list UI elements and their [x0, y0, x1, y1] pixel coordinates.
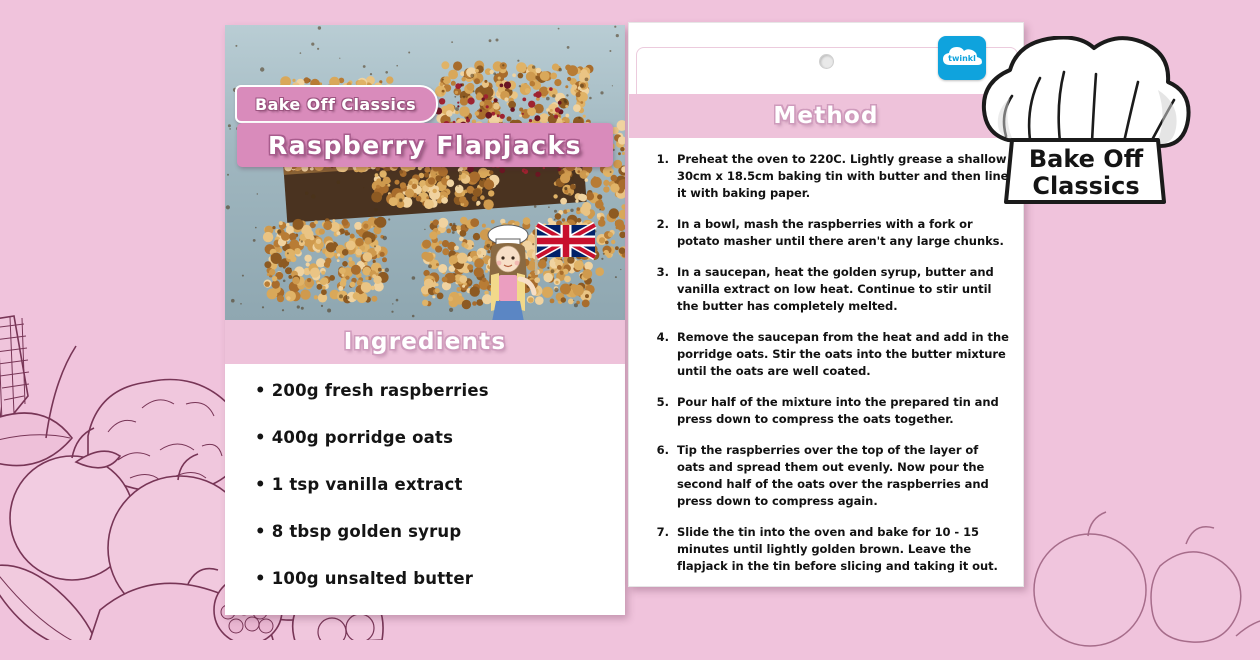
ingredients-heading-band: Ingredients — [225, 320, 625, 364]
method-step: 4. Remove the saucepan from the heat and… — [647, 329, 1009, 380]
list-item: 100g unsalted butter — [255, 569, 515, 588]
step-text: In a bowl, mash the raspberries with a f… — [677, 216, 1009, 250]
punch-hole-icon — [819, 54, 834, 69]
union-jack-flag-icon — [535, 221, 597, 276]
step-text: Preheat the oven to 220C. Lightly grease… — [677, 151, 1009, 202]
step-number: 1. — [647, 151, 677, 202]
step-text: Slide the tin into the oven and bake for… — [677, 524, 1009, 575]
list-item: 8 tbsp golden syrup — [255, 522, 515, 541]
method-steps-list: 1. Preheat the oven to 220C. Lightly gre… — [647, 151, 1009, 589]
step-number: 6. — [647, 442, 677, 510]
method-step: 6. Tip the raspberries over the top of t… — [647, 442, 1009, 510]
recipe-card-left: {} — [225, 25, 625, 615]
list-item: 1 tsp vanilla extract — [255, 475, 515, 494]
ribbon-label: Bake Off Classics — [255, 95, 416, 114]
ingredients-list: 200g fresh raspberries 400g porridge oat… — [255, 381, 515, 616]
list-item: 400g porridge oats — [255, 428, 515, 447]
step-number: 2. — [647, 216, 677, 250]
method-step: 3. In a saucepan, heat the golden syrup,… — [647, 264, 1009, 315]
chef-hat-line1: Bake Off — [1029, 145, 1144, 173]
chef-hat-line2: Classics — [1032, 172, 1139, 200]
method-step: 5. Pour half of the mixture into the pre… — [647, 394, 1009, 428]
method-step: 1. Preheat the oven to 220C. Lightly gre… — [647, 151, 1009, 202]
step-text: Tip the raspberries over the top of the … — [677, 442, 1009, 510]
step-number: 5. — [647, 394, 677, 428]
step-number: 4. — [647, 329, 677, 380]
method-step: 2. In a bowl, mash the raspberries with … — [647, 216, 1009, 250]
step-number: 7. — [647, 524, 677, 575]
page-title: Raspberry Flapjacks — [268, 131, 582, 160]
chef-hat-badge: Bake Off Classics — [962, 36, 1202, 226]
method-step: 7. Slide the tin into the oven and bake … — [647, 524, 1009, 575]
step-number: 3. — [647, 264, 677, 315]
background-fruit-line-art-right — [1000, 440, 1260, 660]
list-item: 200g fresh raspberries — [255, 381, 515, 400]
step-text: Remove the saucepan from the heat and ad… — [677, 329, 1009, 380]
bake-off-classics-ribbon: Bake Off Classics — [235, 85, 438, 123]
recipe-title-band: Raspberry Flapjacks — [237, 123, 613, 167]
step-text: In a saucepan, heat the golden syrup, bu… — [677, 264, 1009, 315]
step-text: Pour half of the mixture into the prepar… — [677, 394, 1009, 428]
method-heading: Method — [773, 103, 878, 129]
ingredients-heading: Ingredients — [344, 329, 507, 355]
